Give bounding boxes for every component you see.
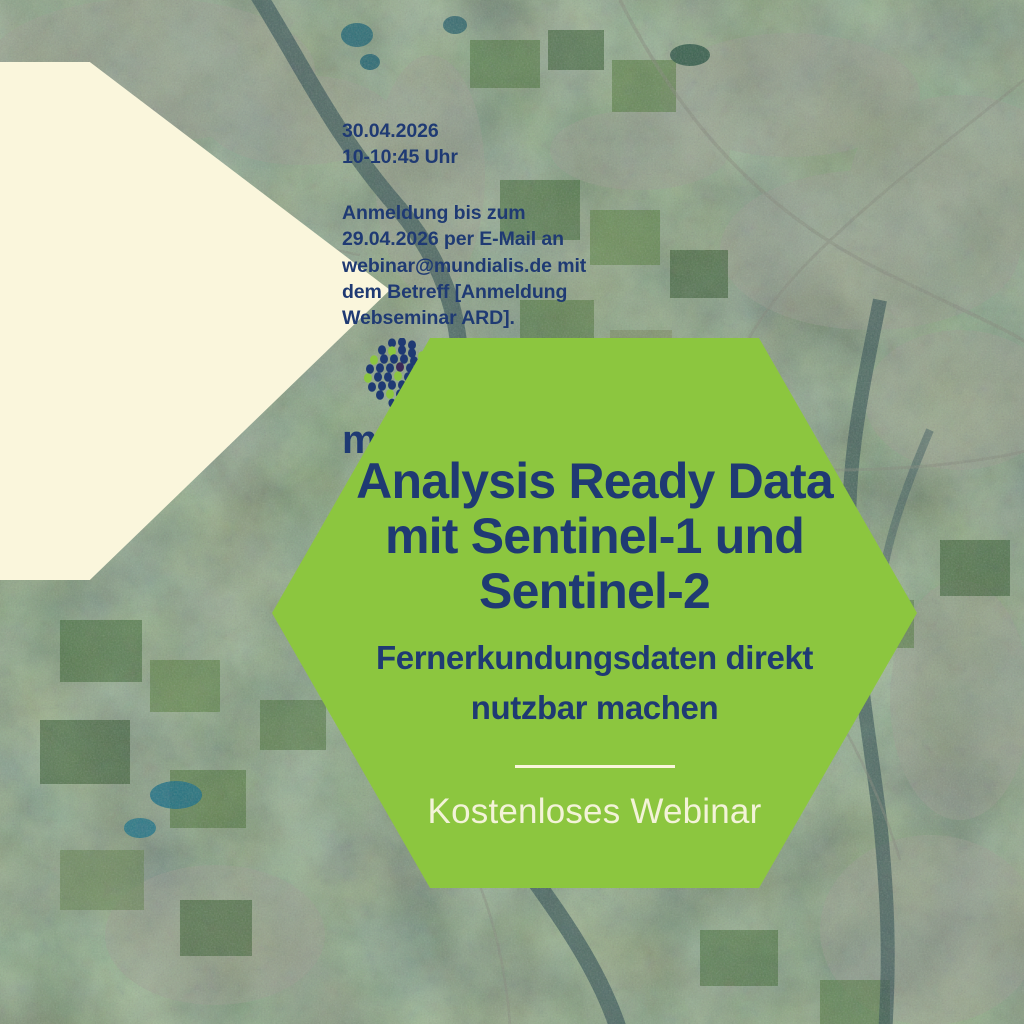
registration-instructions: Anmeldung bis zum 29.04.2026 per E-Mail … (342, 200, 614, 331)
webinar-poster: 30.04.2026 10-10:45 Uhr Anmeldung bis zu… (0, 0, 1024, 1024)
webinar-title: Analysis Ready Data mit Sentinel-1 und S… (335, 454, 855, 619)
webinar-subtitle: Fernerkundungsdaten direkt nutzbar mache… (335, 633, 855, 733)
webinar-cta-label: Kostenloses Webinar (428, 792, 762, 832)
event-time: 10-10:45 Uhr (342, 144, 642, 170)
event-date: 30.04.2026 (342, 118, 642, 144)
event-datetime: 30.04.2026 10-10:45 Uhr (342, 118, 642, 170)
info-panel-content: 30.04.2026 10-10:45 Uhr Anmeldung bis zu… (342, 118, 642, 331)
divider-rule (515, 765, 675, 768)
